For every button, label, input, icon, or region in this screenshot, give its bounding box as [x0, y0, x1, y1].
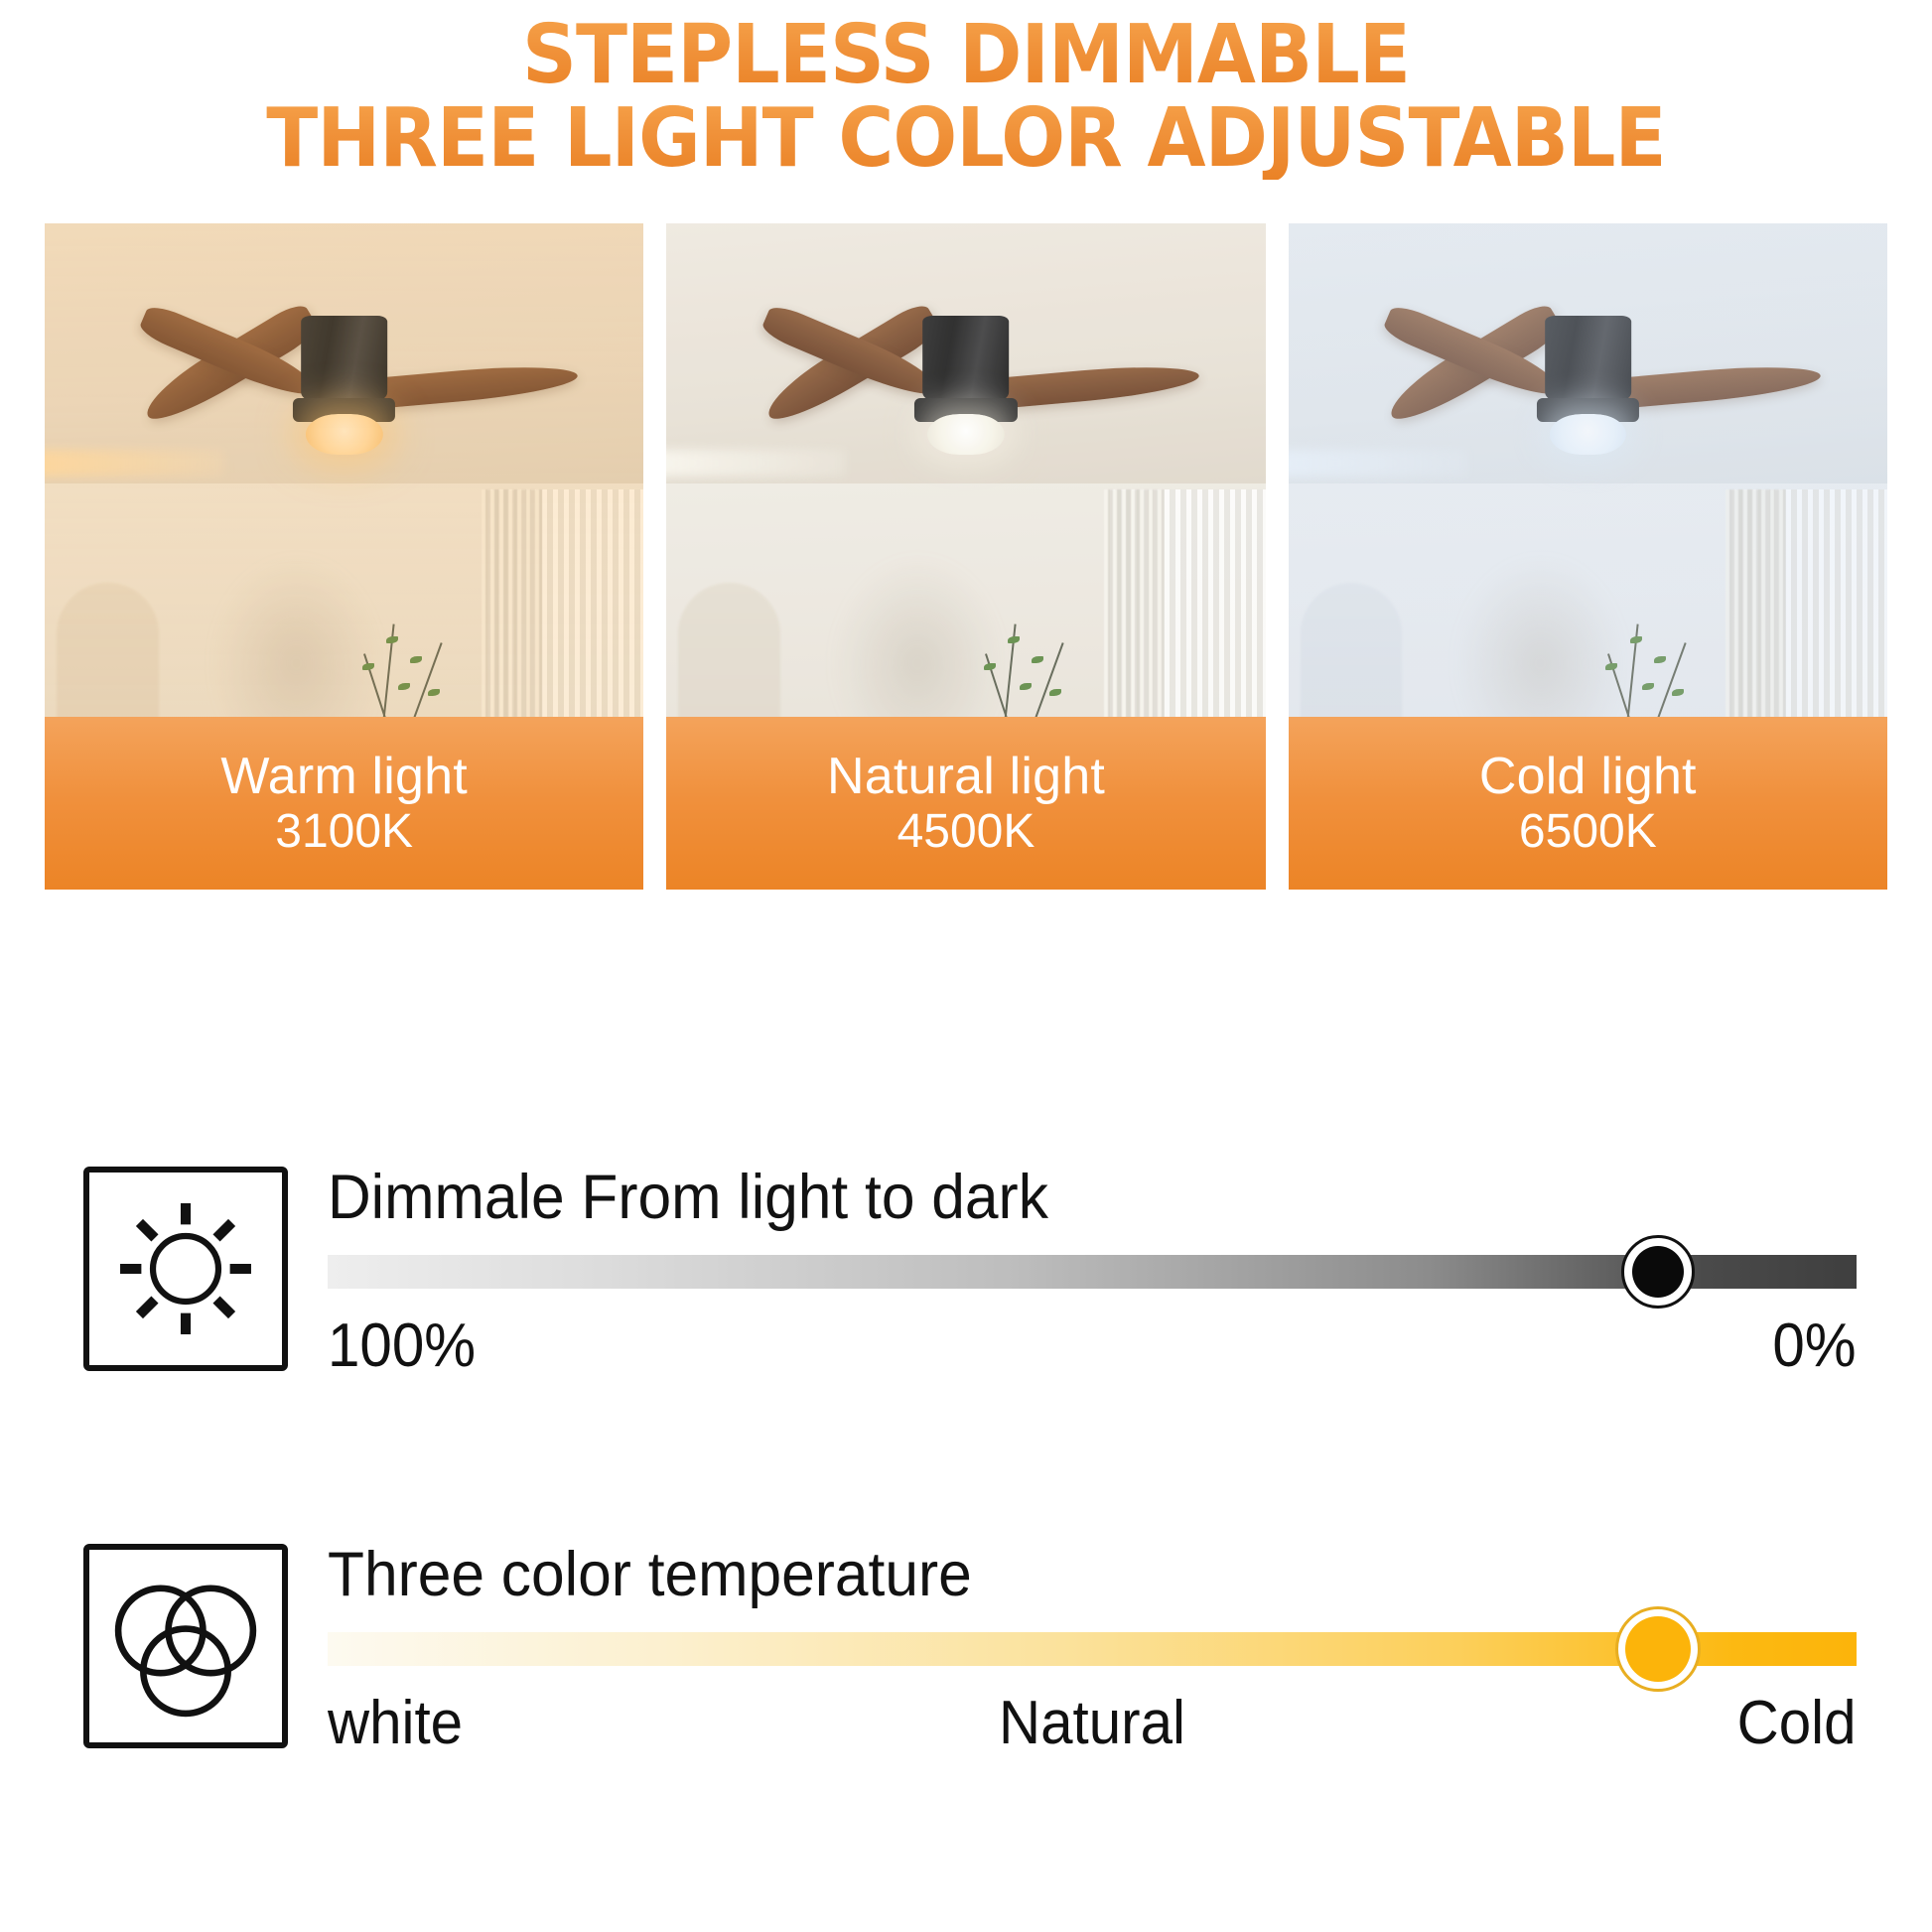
venn-glyph — [89, 1550, 282, 1742]
color-temperature-scale: white Natural Cold — [328, 1690, 1857, 1765]
color-temp-name: Warm light — [220, 748, 468, 805]
color-temperature-body: Three color temperature white Natural Co… — [328, 1544, 1857, 1765]
brightness-slider[interactable] — [328, 1255, 1857, 1289]
plant-leaf — [1630, 636, 1642, 643]
color-temp-white-label: white — [328, 1690, 463, 1757]
knob-ring — [1621, 1235, 1695, 1309]
color-temp-kelvin: 4500K — [897, 805, 1035, 859]
brightness-min-label: 0% — [1773, 1312, 1857, 1380]
color-temp-cold-label: Cold — [1737, 1690, 1857, 1757]
panel-caption-cold: Cold light 6500K — [1289, 717, 1887, 890]
panel-natural-light: Natural light 4500K — [666, 223, 1265, 890]
color-temp-kelvin: 6500K — [1519, 805, 1657, 859]
knob-dot — [1625, 1616, 1691, 1682]
ceiling-fan-cold — [1354, 263, 1822, 503]
panel-cold-light: Cold light 6500K — [1289, 223, 1887, 890]
ceiling-fan-natural — [733, 263, 1200, 503]
fan-led-light-natural — [927, 414, 1005, 455]
plant-leaf — [984, 663, 996, 670]
brightness-scale: 100% 0% — [328, 1312, 1857, 1388]
color-temperature-title: Three color temperature — [328, 1544, 1795, 1606]
color-temp-name: Cold light — [1479, 748, 1697, 805]
color-temp-natural-label: Natural — [999, 1690, 1185, 1757]
panel-warm-light: Warm light 3100K — [45, 223, 643, 890]
brightness-max-label: 100% — [328, 1312, 476, 1380]
plant-leaf — [362, 663, 374, 670]
knob-ring — [1615, 1606, 1701, 1692]
color-temperature-slider[interactable] — [328, 1632, 1857, 1666]
three-circles-icon — [83, 1544, 288, 1748]
headline-line-2: THREE LIGHT COLOR ADJUSTABLE — [68, 97, 1864, 181]
fan-led-light-warm — [306, 414, 383, 455]
page-title: STEPLESS DIMMABLE THREE LIGHT COLOR ADJU… — [0, 14, 1932, 180]
fan-motor-housing — [922, 316, 1009, 402]
feature-dimming: Dimmale From light to dark 100% 0% — [0, 1167, 1932, 1474]
panel-caption-natural: Natural light 4500K — [666, 717, 1265, 890]
fan-led-light-cold — [1549, 414, 1626, 455]
brightness-slider-knob[interactable] — [1621, 1235, 1695, 1309]
color-temp-kelvin: 3100K — [275, 805, 413, 859]
brightness-sun-icon — [83, 1167, 288, 1371]
fan-motor-housing — [1545, 316, 1631, 402]
feature-color-temperature: Three color temperature white Natural Co… — [0, 1544, 1932, 1862]
ceiling-fan-warm — [110, 263, 578, 503]
light-color-panels: Warm light 3100K — [45, 223, 1887, 890]
headline-line-1: STEPLESS DIMMABLE — [68, 14, 1864, 97]
fan-motor-housing — [301, 316, 387, 402]
dimming-title: Dimmale From light to dark — [328, 1167, 1795, 1229]
plant-leaf — [1642, 683, 1654, 690]
color-temp-name: Natural light — [827, 748, 1105, 805]
dimming-body: Dimmale From light to dark 100% 0% — [328, 1167, 1857, 1388]
panel-caption-warm: Warm light 3100K — [45, 717, 643, 890]
knob-dot — [1632, 1246, 1684, 1298]
color-temperature-slider-knob[interactable] — [1615, 1606, 1701, 1692]
sun-glyph — [89, 1173, 282, 1365]
